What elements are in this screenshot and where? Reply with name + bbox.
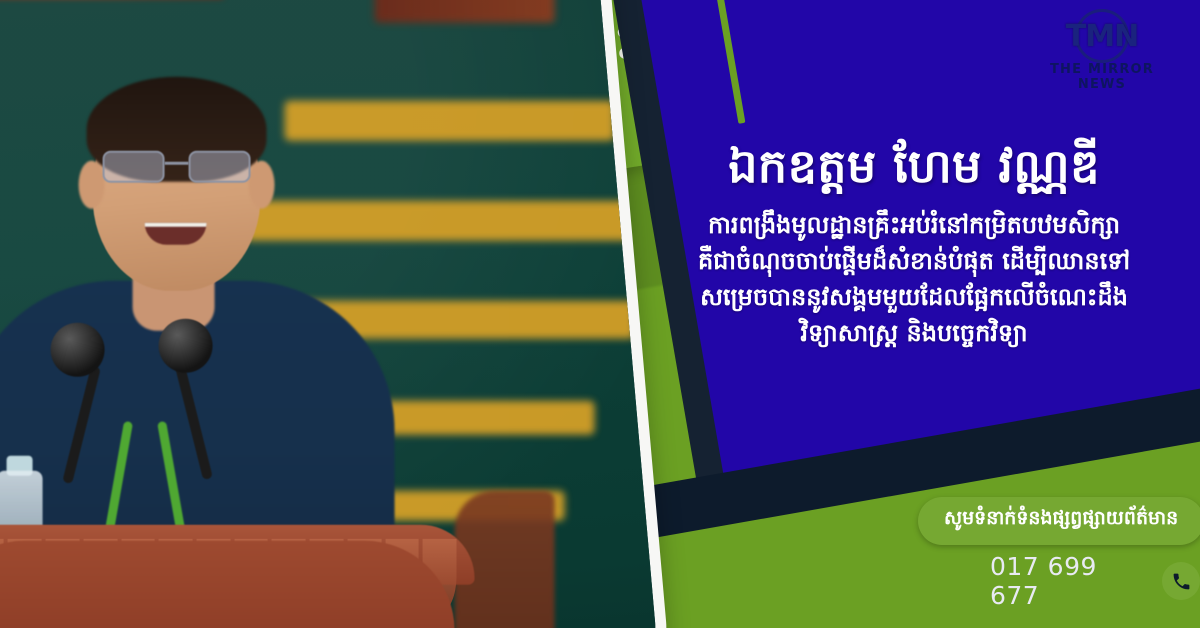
subtitle-line: វិទ្យាសាស្ត្រ និងបច្ចេកវិទ្យា [640,315,1188,351]
backdrop-khmer-text-1 [285,101,615,141]
page-title: ឯកឧត្តម ហែម វណ្ណឌី [640,140,1188,193]
phone-number: 017 699 677 [990,552,1154,610]
logo-monogram: TMN [1066,19,1138,54]
photo-frame [0,0,672,628]
follow-cta-button[interactable]: សូមទំនាក់ទំនងផ្សព្វផ្សាយព័ត៌មាន [918,497,1200,545]
news-banner: TMN THE MIRROR NEWS ឯកឧត្តម ហែម វណ្ណឌី ក… [0,0,1200,628]
logo-wordmark: THE MIRROR NEWS [1026,62,1178,92]
backdrop-banner-right [375,0,555,23]
headline-block: ឯកឧត្តម ហែម វណ្ណឌី ការពង្រឹងមូលដ្ឋានគ្រឹ… [640,140,1188,351]
subtitle-line: ការពង្រឹងមូលដ្ឋានគ្រឹះអប់រំនៅកម្រិតបឋមសិ… [640,207,1188,243]
speaker-photo [0,0,660,628]
logo-mark: TMN [1026,10,1178,62]
backdrop-khmer-text-2 [245,201,645,241]
contact-phone[interactable]: 017 699 677 [990,552,1200,610]
subtitle-text: ការពង្រឹងមូលដ្ឋានគ្រឹះអប់រំនៅកម្រិតបឋមសិ… [640,207,1188,351]
glasses-icon [103,151,251,185]
speaker-ear-left [79,161,105,209]
brand-logo[interactable]: TMN THE MIRROR NEWS [1026,10,1178,92]
speaker-ear-right [249,161,275,209]
subtitle-line: គឺជាចំណុចចាប់ផ្តើមដ៏សំខាន់បំផុត ដើម្បីឈា… [640,243,1188,279]
phone-icon[interactable] [1162,562,1200,600]
wooden-podium [0,541,455,628]
microphone-left-icon [51,323,105,377]
microphone-right-icon [159,319,213,373]
subtitle-line: សម្រេចបាននូវសង្គមមួយដែលផ្អែកលើចំណេះដឹង [640,279,1188,315]
photo-inner [0,0,660,628]
